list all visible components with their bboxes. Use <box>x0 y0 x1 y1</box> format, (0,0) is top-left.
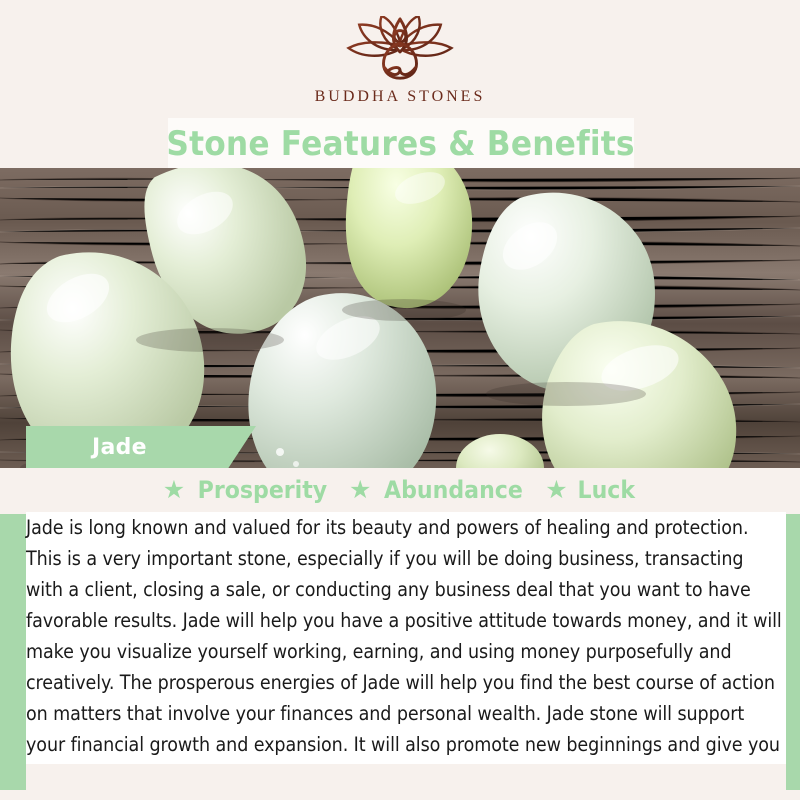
star-icon: ★ <box>545 478 567 503</box>
benefits-list: ★ Prosperity ★ Abundance ★ Luck <box>0 476 800 504</box>
bottom-background-fill <box>26 764 786 790</box>
brand-wordmark: BUDDHA STONES <box>315 88 486 106</box>
title-box: Stone Features & Benefits <box>168 118 634 170</box>
description-text: Jade is long known and valued for its be… <box>26 512 786 791</box>
page-title: Stone Features & Benefits <box>167 124 635 164</box>
benefit-item-prosperity: ★ Prosperity <box>163 476 333 504</box>
description-panel: Jade is long known and valued for its be… <box>26 512 786 764</box>
benefit-item-abundance: ★ Abundance <box>349 476 529 504</box>
brand-header: BUDDHA STONES <box>0 0 800 120</box>
lotus-meditation-icon <box>325 16 475 84</box>
stone-infographic: BUDDHA STONES Stone Features & Benefits <box>0 0 800 800</box>
stone-photo <box>0 168 800 468</box>
benefit-label: Luck <box>577 476 635 504</box>
star-icon: ★ <box>349 478 371 503</box>
benefit-label: Prosperity <box>198 476 328 504</box>
brand-logo: BUDDHA STONES <box>0 16 800 106</box>
benefit-item-luck: ★ Luck <box>545 476 637 504</box>
stone-name-tag: Jade <box>26 426 256 468</box>
stone-name-label: Jade <box>26 435 147 460</box>
benefit-label: Abundance <box>384 476 523 504</box>
star-icon: ★ <box>163 478 185 503</box>
